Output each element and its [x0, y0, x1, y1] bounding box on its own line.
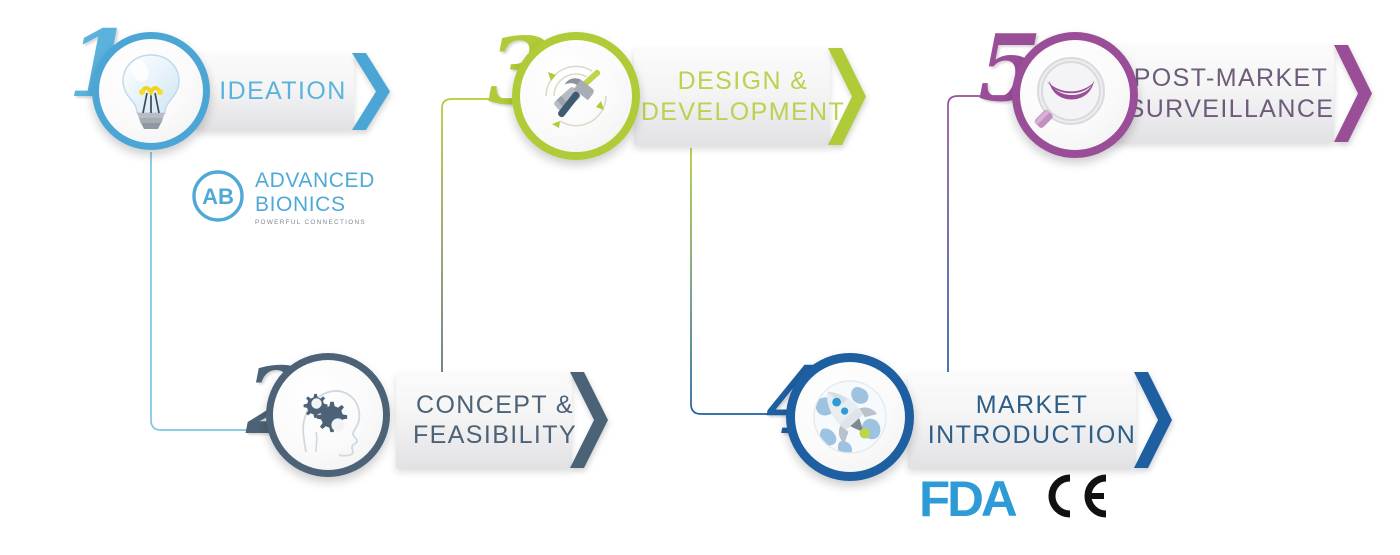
- connector-2-to-3: [442, 99, 536, 408]
- step-1-label: IDEATION: [219, 76, 346, 107]
- infographic-canvas: 1 IDEATION: [0, 0, 1400, 555]
- step-2-banner[interactable]: CONCEPT & FEASIBILITY: [396, 372, 616, 468]
- ab-logo-line1: ADVANCED: [255, 170, 375, 191]
- ab-monogram-icon: AB: [190, 168, 246, 229]
- ab-logo-tagline: POWERFUL CONNECTIONS: [255, 220, 375, 226]
- ab-logo-line2: BIONICS: [255, 194, 375, 215]
- svg-text:AB: AB: [202, 184, 234, 209]
- step-1-chevron-icon: [350, 53, 396, 130]
- magnifier-icon: [1027, 47, 1123, 143]
- advanced-bionics-logo: AB ADVANCED BIONICS POWERFUL CONNECTIONS: [190, 168, 375, 229]
- step-2-chevron-icon: [568, 372, 614, 468]
- step-3-banner[interactable]: DESIGN & DEVELOPMENT: [634, 48, 874, 145]
- step-2-label: CONCEPT & FEASIBILITY: [413, 390, 577, 451]
- step-1-banner[interactable]: IDEATION: [196, 53, 396, 130]
- step-4-chevron-icon: [1132, 372, 1178, 468]
- step-4-label: MARKET INTRODUCTION: [928, 390, 1136, 451]
- step-4-medallion[interactable]: [786, 353, 914, 481]
- step-1-banner-bar: IDEATION: [196, 53, 354, 130]
- step-4-banner-bar: MARKET INTRODUCTION: [908, 372, 1136, 468]
- step-1-medallion[interactable]: [92, 32, 210, 150]
- regulatory-marks: FDA: [920, 472, 1120, 524]
- ce-mark: [1040, 472, 1120, 524]
- head-gears-icon: [285, 372, 371, 458]
- step-3-label: DESIGN & DEVELOPMENT: [641, 66, 845, 127]
- hammers-icon: [530, 50, 622, 142]
- step-3-chevron-icon: [826, 48, 872, 145]
- lightbulb-icon: [114, 51, 188, 131]
- connector-4-to-5: [948, 96, 1040, 410]
- step-4-banner[interactable]: MARKET INTRODUCTION: [908, 372, 1180, 468]
- step-5-banner[interactable]: POST-MARKET SURVEILLANCE: [1110, 45, 1380, 142]
- step-3-banner-bar: DESIGN & DEVELOPMENT: [634, 48, 830, 145]
- step-5-medallion[interactable]: [1012, 32, 1138, 158]
- step-2-medallion[interactable]: [266, 353, 390, 477]
- step-5-chevron-icon: [1332, 45, 1378, 142]
- step-2-banner-bar: CONCEPT & FEASIBILITY: [396, 372, 572, 468]
- step-3-medallion[interactable]: [512, 32, 640, 160]
- step-5-banner-bar: POST-MARKET SURVEILLANCE: [1110, 45, 1334, 142]
- step-5-label: POST-MARKET SURVEILLANCE: [1128, 63, 1335, 124]
- fda-mark: FDA: [919, 474, 1015, 524]
- rocket-globe-icon: [804, 371, 896, 463]
